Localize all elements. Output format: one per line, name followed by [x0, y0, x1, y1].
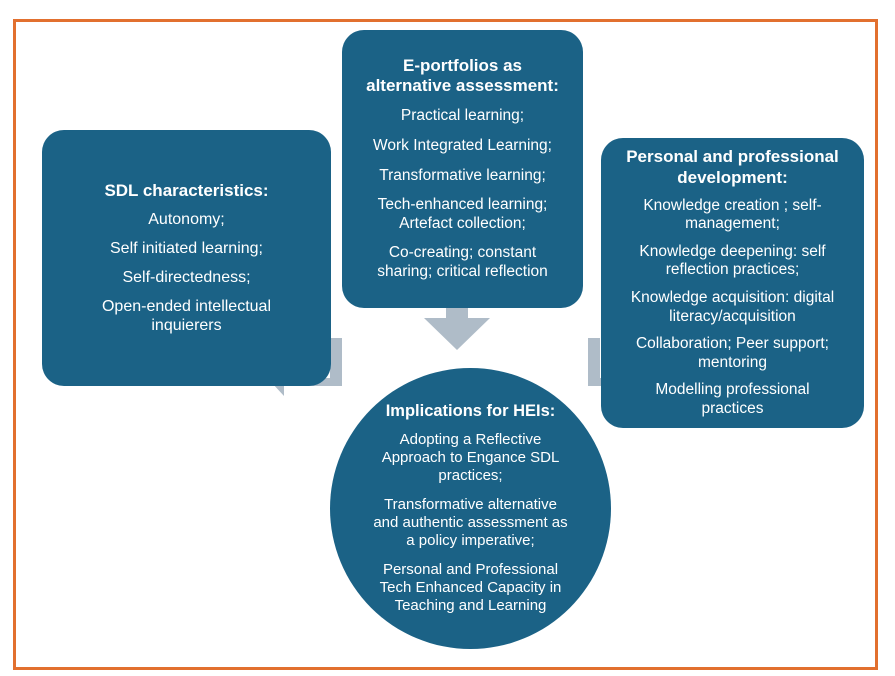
node-e-portfolios[interactable]: E-portfolios as alternative assessment: …	[342, 30, 583, 308]
diagram-canvas: SDL characteristics: Autonomy; Self init…	[0, 0, 895, 676]
node-personal-professional-development-line-4: Collaboration; Peer support; mentoring	[636, 335, 829, 372]
node-sdl-characteristics-line-1: Autonomy;	[148, 210, 224, 229]
node-e-portfolios-line-1: Practical learning;	[401, 107, 524, 126]
node-e-portfolios-line-4: Tech-enhanced learning; Artefact collect…	[378, 196, 548, 233]
node-sdl-characteristics[interactable]: SDL characteristics: Autonomy; Self init…	[42, 130, 331, 386]
node-sdl-characteristics-line-2: Self initiated learning;	[110, 239, 263, 258]
node-e-portfolios-line-3: Transformative learning;	[379, 167, 546, 186]
node-e-portfolios-title: E-portfolios as alternative assessment:	[366, 56, 559, 96]
node-e-portfolios-line-2: Work Integrated Learning;	[373, 137, 552, 156]
node-sdl-characteristics-line-4: Open-ended intellectual inquierers	[102, 297, 271, 335]
node-personal-professional-development-line-5: Modelling professional practices	[655, 381, 809, 418]
node-personal-professional-development-line-1: Knowledge creation ; self- management;	[643, 197, 821, 234]
node-personal-professional-development[interactable]: Personal and professional development: K…	[601, 138, 864, 428]
node-personal-professional-development-line-2: Knowledge deepening: self reflection pra…	[639, 243, 825, 280]
node-implications-for-heis-line-2: Transformative alternative and authentic…	[373, 496, 567, 550]
node-implications-for-heis[interactable]: Implications for HEIs: Adopting a Reflec…	[330, 368, 611, 649]
node-sdl-characteristics-line-3: Self-directedness;	[122, 268, 250, 287]
node-e-portfolios-line-5: Co-creating; constant sharing; critical …	[377, 244, 548, 281]
node-personal-professional-development-title: Personal and professional development:	[626, 147, 839, 187]
node-implications-for-heis-title: Implications for HEIs:	[386, 402, 556, 421]
node-sdl-characteristics-title: SDL characteristics:	[104, 181, 268, 201]
node-personal-professional-development-line-3: Knowledge acquisition: digital literacy/…	[631, 289, 834, 326]
node-implications-for-heis-line-1: Adopting a Reflective Approach to Enganc…	[382, 431, 560, 485]
arrow-eportfolios-to-implications-icon	[424, 305, 490, 350]
node-implications-for-heis-line-3: Personal and Professional Tech Enhanced …	[380, 561, 562, 615]
